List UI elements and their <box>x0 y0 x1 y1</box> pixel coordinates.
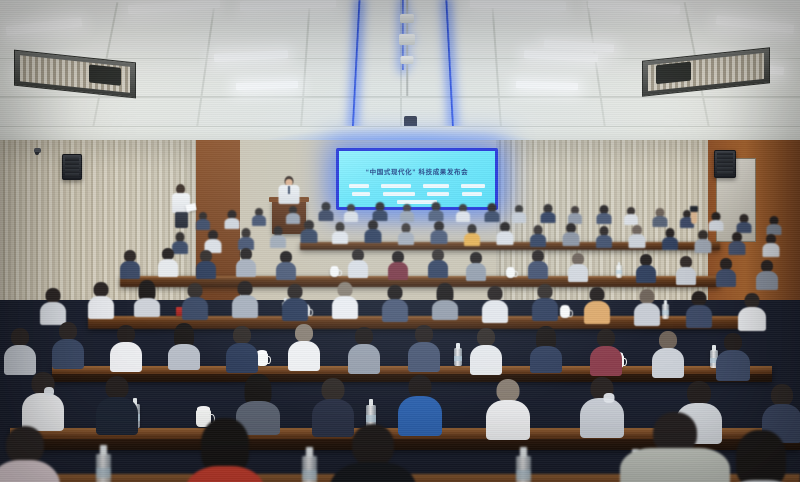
water-bottle <box>662 304 669 319</box>
face-mask <box>604 393 615 403</box>
foreground-attendee <box>330 424 416 482</box>
teacup <box>330 268 339 277</box>
teacup <box>560 307 570 318</box>
water-bottle <box>616 265 622 278</box>
screen-title-text: “中国式现代化” 科技成果发布会 <box>339 166 495 176</box>
wall-speaker-right <box>714 150 736 178</box>
foreground-attendee <box>722 430 800 482</box>
water-bottle <box>96 454 111 482</box>
foreground-attendee <box>620 412 730 482</box>
foreground-attendee <box>0 426 60 482</box>
foreground-attendee <box>186 418 264 482</box>
surveillance-camera <box>34 148 41 153</box>
wall-speaker-left <box>62 154 82 180</box>
water-bottle <box>516 456 531 482</box>
conference-hall-photo: “中国式现代化” 科技成果发布会 <box>0 0 800 482</box>
water-bottle <box>302 456 317 482</box>
water-bottle <box>454 348 462 366</box>
face-mask <box>44 387 54 396</box>
ceiling-pendant-fixture <box>398 0 416 96</box>
ceiling <box>0 0 800 152</box>
audience-area <box>0 196 800 482</box>
teacup <box>506 269 515 278</box>
screen-text-row-1 <box>345 184 489 188</box>
attendee-holding-phone <box>690 210 698 226</box>
